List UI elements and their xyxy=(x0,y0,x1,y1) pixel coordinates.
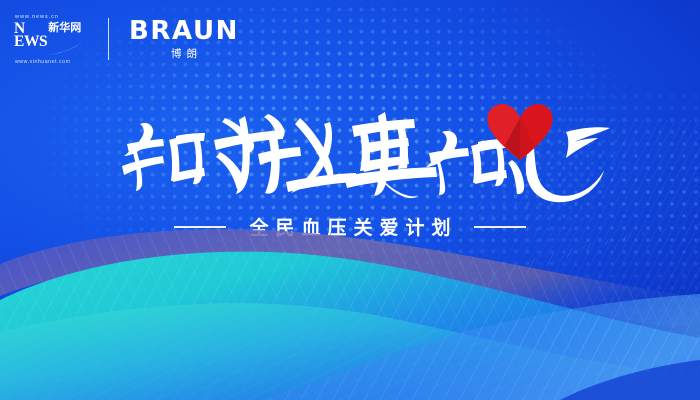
wave-mesh xyxy=(0,220,700,400)
xinhua-chinese-name: 新华网 xyxy=(48,23,81,35)
subtitle-group: 全民血压关爱计划 xyxy=(0,213,700,240)
heart-icon xyxy=(484,102,556,164)
headline-group xyxy=(0,96,700,206)
campaign-banner: www.news.cn N EWS 新华网 www.xinhuanet.com … xyxy=(0,0,700,400)
wave-bottom-wedge xyxy=(560,360,700,400)
subtitle-text: 全民血压关爱计划 xyxy=(242,213,457,240)
xinhua-wordmark-line2: EWS xyxy=(14,35,47,48)
banner-header: www.news.cn N EWS 新华网 www.xinhuanet.com … xyxy=(14,10,239,68)
wave-mauve xyxy=(0,220,700,400)
braun-wordmark: BRAUN xyxy=(129,18,239,44)
logo-divider xyxy=(108,18,109,60)
braun-chinese-name: 博朗 xyxy=(129,49,239,60)
xinhua-wordmark: N EWS xyxy=(14,22,47,49)
xinhua-news-logo[interactable]: www.news.cn N EWS 新华网 www.xinhuanet.com xyxy=(14,13,86,65)
swoosh-icon xyxy=(44,41,84,57)
braun-logo[interactable]: BRAUN 博朗 xyxy=(129,18,239,60)
wave-cyan xyxy=(0,220,700,400)
xinhua-url-bottom: www.xinhuanet.com xyxy=(15,59,70,65)
wave-blue xyxy=(0,220,700,400)
subtitle-rule-left xyxy=(174,226,226,228)
wave-cyan-front xyxy=(0,220,700,400)
headline-calligraphy xyxy=(0,96,700,206)
wave-deep-band xyxy=(400,324,700,400)
subtitle-rule-right xyxy=(474,226,526,228)
wave-decoration xyxy=(0,220,700,400)
